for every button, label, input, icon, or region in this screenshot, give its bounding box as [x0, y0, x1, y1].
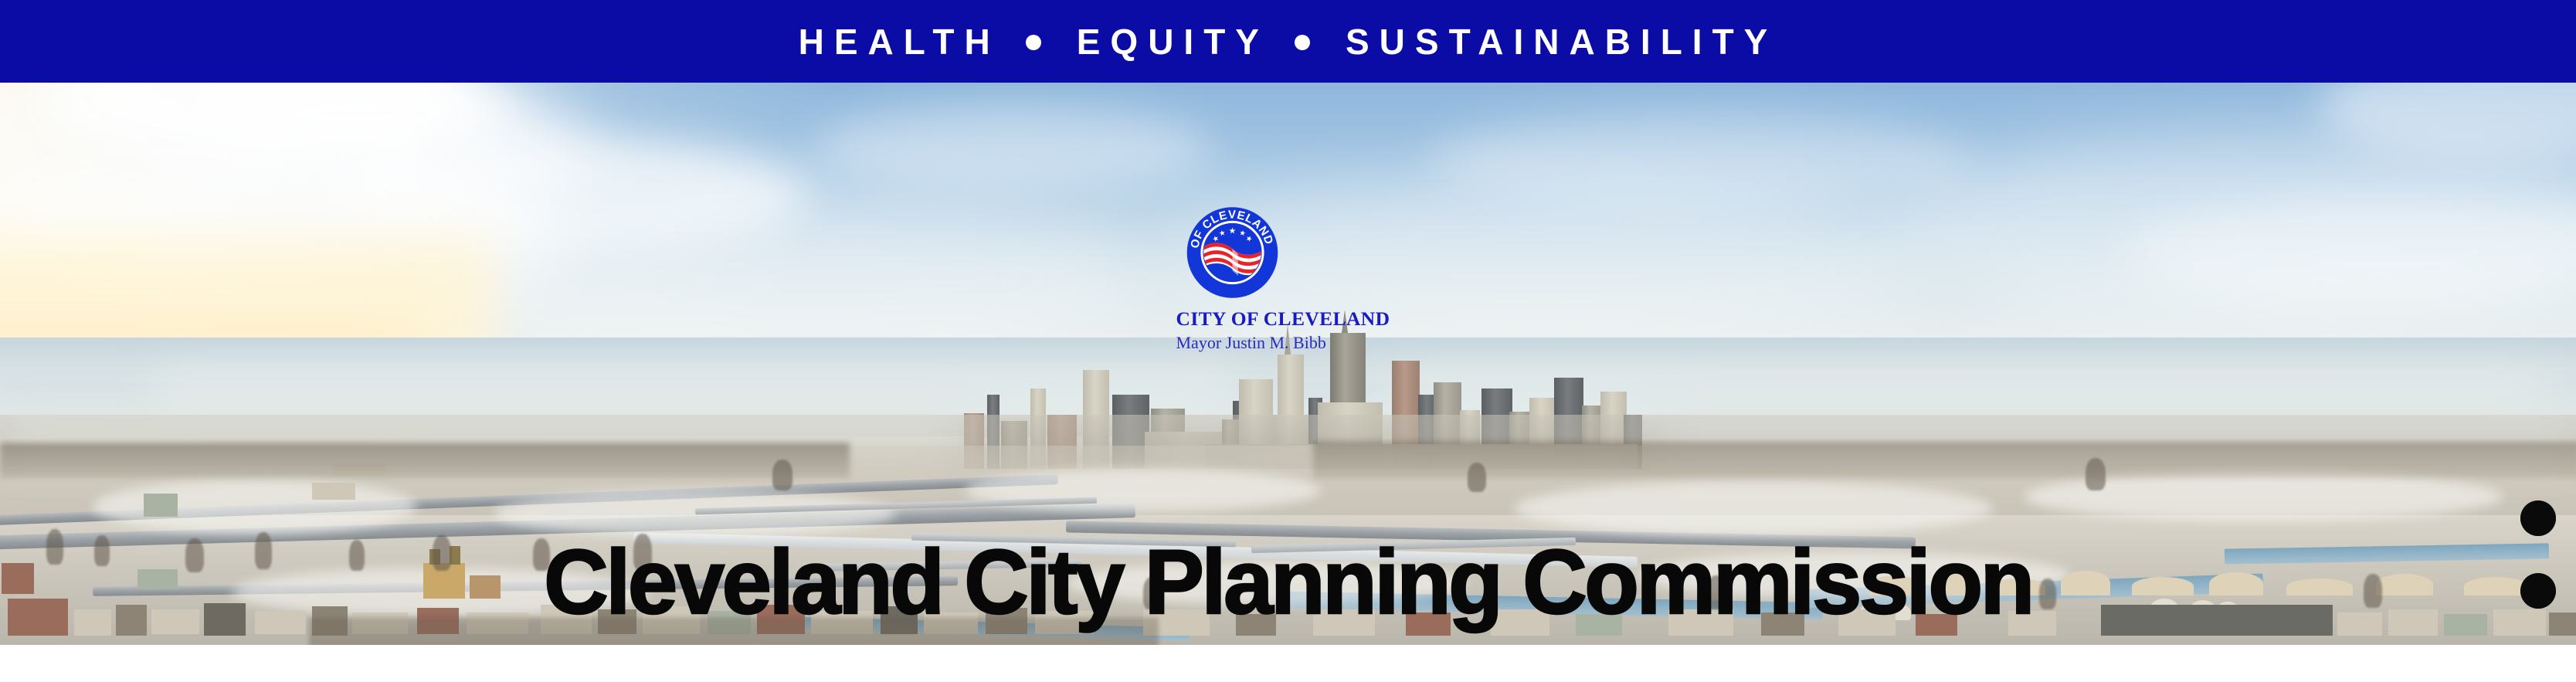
instagram-icon — [2520, 573, 2556, 609]
hero-photo: CITY OF CLEVELAND OHIO — [0, 83, 2576, 645]
tagline-word-health: HEALTH — [799, 24, 1000, 59]
page-root: HEALTH EQUITY SUSTAINABILITY — [0, 0, 2576, 682]
page-title: Cleveland City Planning Commission — [25, 537, 2550, 628]
logo-subtitle: Mayor Justin M. Bibb — [1176, 334, 1288, 351]
logo-title: CITY OF CLEVELAND — [1176, 309, 1288, 329]
tagline-word-equity: EQUITY — [1077, 24, 1269, 59]
dot-separator-icon — [1026, 35, 1041, 50]
social-links-rail — [2520, 500, 2556, 645]
tagline-banner: HEALTH EQUITY SUSTAINABILITY — [0, 0, 2576, 83]
city-of-cleveland-seal-icon: CITY OF CLEVELAND OHIO — [1186, 206, 1278, 299]
tagline-word-group: HEALTH EQUITY SUSTAINABILITY — [799, 24, 1778, 59]
city-of-cleveland-logo[interactable]: CITY OF CLEVELAND OHIO — [1176, 206, 1288, 351]
tagline-word-sustainability: SUSTAINABILITY — [1346, 24, 1777, 59]
youtube-link[interactable] — [2520, 500, 2556, 536]
dot-separator-icon — [1295, 35, 1310, 50]
instagram-link[interactable] — [2520, 573, 2556, 609]
youtube-icon — [2520, 500, 2556, 536]
